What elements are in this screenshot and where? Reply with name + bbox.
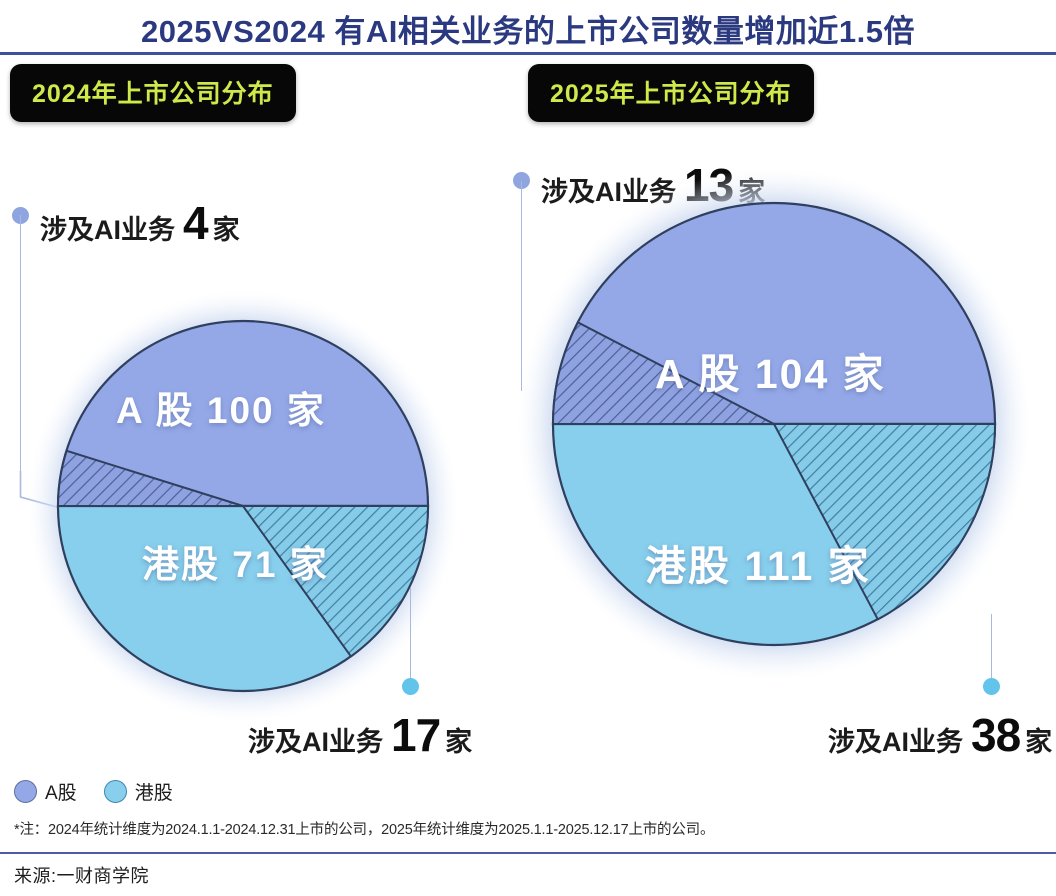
callout-unit: 家 (1025, 720, 1052, 759)
pie-label-a-share-2024: A 股 100 家 (116, 380, 326, 434)
callout-number: 4 (183, 200, 208, 246)
pie-label-hk-share-2024: 港股 71 家 (142, 534, 329, 588)
pie-chart-2025: A 股 104 家 港股 111 家 (505, 170, 1056, 690)
footer-divider (0, 852, 1056, 854)
source-label: 来源:一财商学院 (14, 862, 149, 888)
panel-badge-2024: 2024年上市公司分布 (10, 64, 296, 122)
pie-2025-svg (505, 170, 1056, 690)
cyan-dot-2024 (402, 678, 419, 695)
callout-ai-2025-bottom: 涉及AI业务 38 家 (828, 712, 1052, 759)
callout-unit: 家 (213, 208, 240, 247)
panel-badge-2025: 2025年上市公司分布 (528, 64, 814, 122)
pie-2024-svg (0, 250, 500, 680)
pie-chart-2024: A 股 100 家 港股 71 家 (0, 250, 500, 680)
callout-label: 涉及AI业务 (248, 720, 383, 759)
callout-number: 17 (391, 712, 440, 758)
legend-item-hk-share: 港股 (104, 778, 173, 805)
callout-number: 38 (971, 712, 1020, 758)
pie-label-a-share-2025: A 股 104 家 (655, 340, 886, 400)
legend-label: 港股 (135, 778, 173, 805)
pie-label-hk-share-2025: 港股 111 家 (645, 532, 871, 592)
connector-line-2024-bottom (410, 588, 411, 680)
legend-swatch-icon-a-share (14, 780, 37, 803)
page-title: 2025VS2024 有AI相关业务的上市公司数量增加近1.5倍 (0, 6, 1056, 51)
callout-unit: 家 (445, 720, 472, 759)
legend-item-a-share: A股 (14, 778, 77, 805)
infographic-root: 2025VS2024 有AI相关业务的上市公司数量增加近1.5倍 2024年上市… (0, 0, 1056, 896)
legend-swatch-icon-hk-share (104, 780, 127, 803)
callout-label: 涉及AI业务 (40, 208, 175, 247)
title-divider (0, 52, 1056, 55)
callout-ai-2024-bottom: 涉及AI业务 17 家 (248, 712, 472, 759)
legend: A股 港股 (14, 778, 173, 805)
callout-ai-2024-top: 涉及AI业务 4 家 (40, 200, 240, 247)
connector-line-2025-bottom (991, 614, 992, 680)
callout-label: 涉及AI业务 (828, 720, 963, 759)
cyan-dot-2025 (983, 678, 1000, 695)
legend-label: A股 (45, 778, 77, 805)
footnote: *注：2024年统计维度为2024.1.1-2024.12.31上市的公司，20… (14, 818, 714, 839)
